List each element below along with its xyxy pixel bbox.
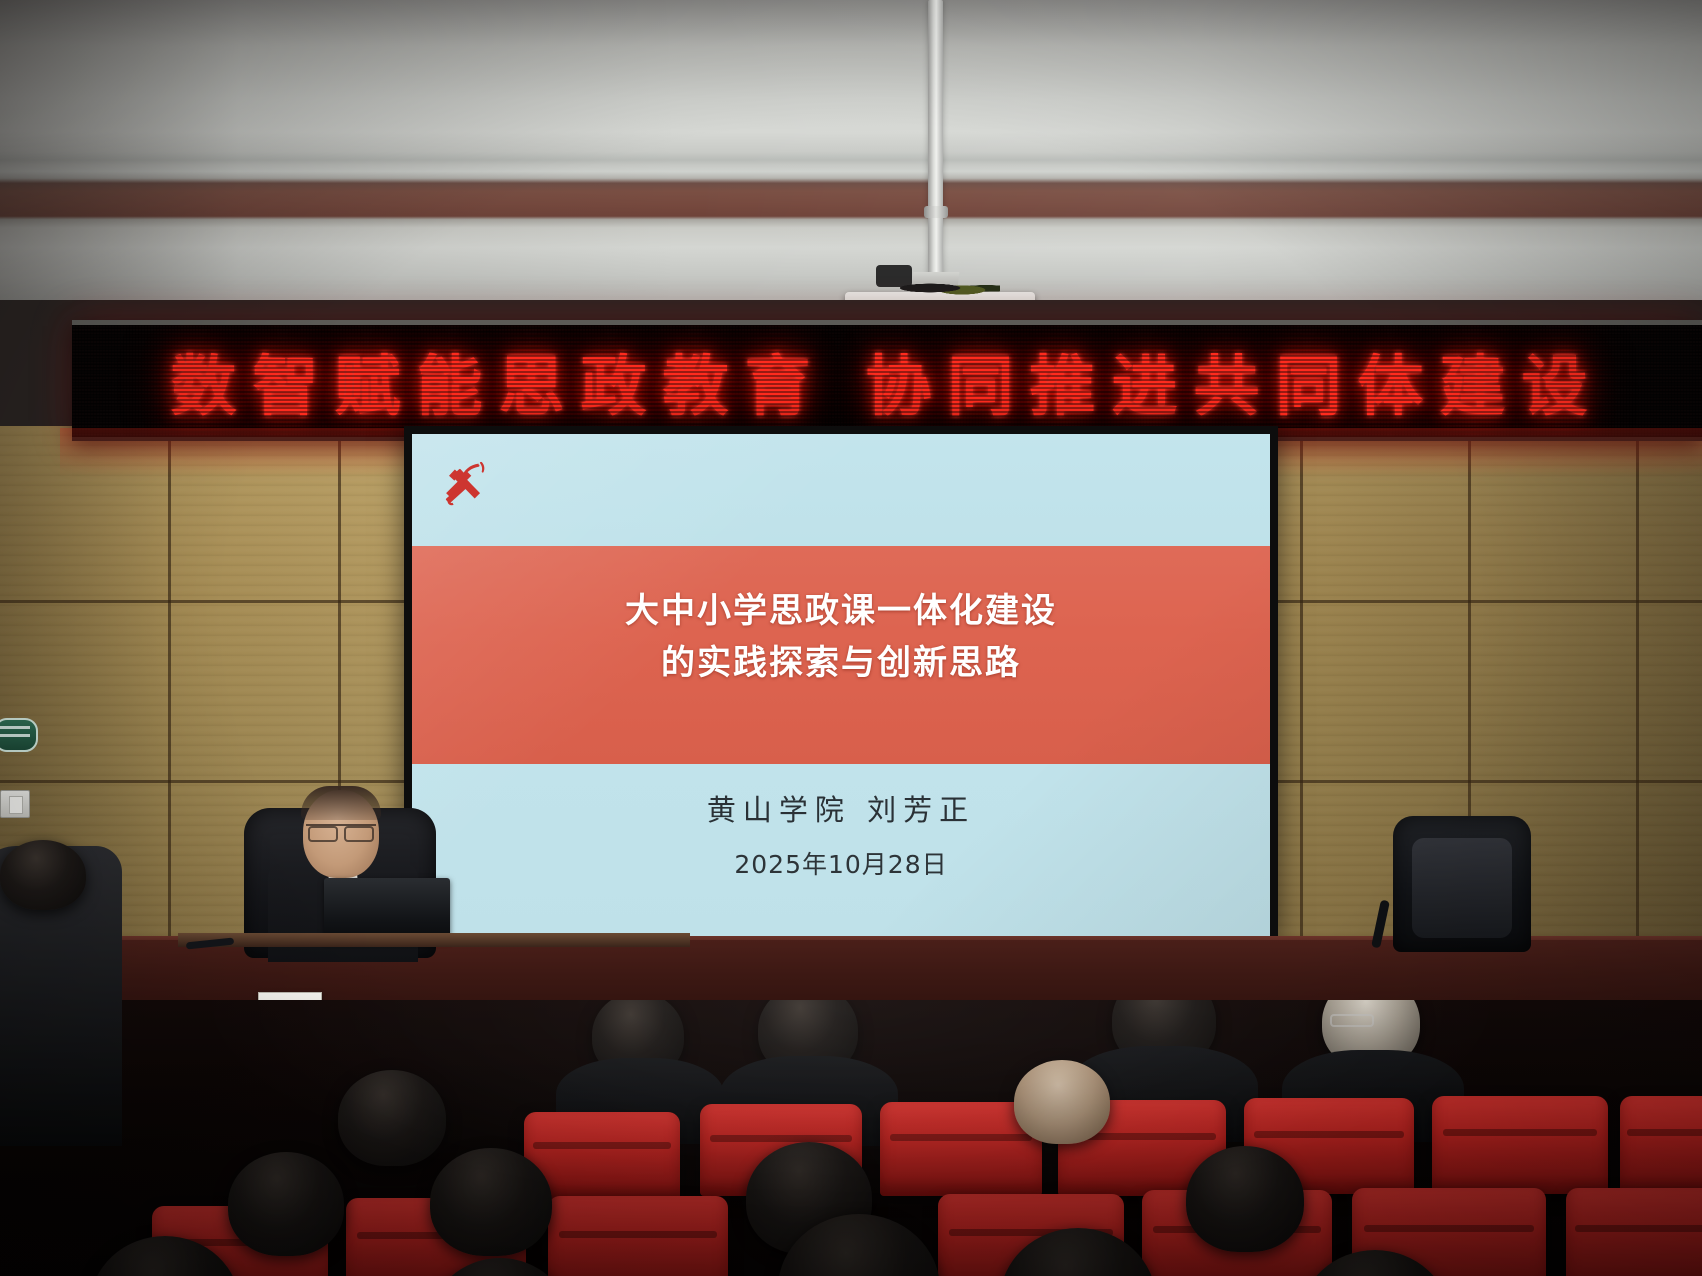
audience-seat: [1620, 1096, 1702, 1194]
audience-seat: [1566, 1188, 1702, 1276]
lecture-hall-photo: 数智赋能思政教育 协同推进共同体建设 大中小学思政课一体化建设: [0, 0, 1702, 1276]
audience-head: [1014, 1060, 1110, 1144]
vacant-stage-chair-cushion: [1412, 838, 1512, 938]
audience-head: [430, 1148, 552, 1256]
slide-presenter-affiliation: 黄山学院 刘芳正: [412, 786, 1270, 835]
ceiling-shading: [0, 0, 1702, 330]
standing-attendee-head: [0, 840, 86, 910]
panel-seam: [0, 600, 404, 603]
projection-screen: 大中小学思政课一体化建设 的实践探索与创新思路 黄山学院 刘芳正 2025年10…: [412, 434, 1270, 938]
slide-title-line-1: 大中小学思政课一体化建设: [412, 586, 1270, 638]
presenter-glasses-icon: [306, 824, 376, 839]
emergency-exit-sign: [0, 718, 38, 752]
panel-seam: [1300, 426, 1303, 1006]
audience-head: [1186, 1146, 1304, 1252]
slide-top-panel: [412, 434, 1270, 546]
panel-seam: [1636, 426, 1639, 1006]
audience-area: [0, 1000, 1702, 1276]
audience-glasses-icon: [1330, 1014, 1374, 1027]
cpc-hammer-sickle-icon: [434, 452, 496, 514]
slide-title-line-2: 的实践探索与创新思路: [412, 638, 1270, 690]
led-banner: 数智赋能思政教育 协同推进共同体建设: [72, 320, 1702, 441]
panel-seam: [168, 426, 171, 1006]
presenter-laptop: [324, 878, 450, 940]
slide-date: 2025年10月28日: [412, 845, 1270, 881]
audience-seat: [548, 1196, 728, 1276]
stage-desk: [178, 933, 690, 947]
projector-mount-pole: [928, 0, 943, 292]
projector-pole-collar: [924, 206, 948, 218]
panel-seam: [1278, 600, 1702, 603]
audience-head: [338, 1070, 446, 1166]
ceiling: [0, 0, 1702, 330]
panel-seam: [0, 780, 404, 783]
audience-seat: [1432, 1096, 1608, 1194]
panel-seam: [1278, 780, 1702, 783]
audience-head: [228, 1152, 344, 1256]
presenter-hair: [301, 786, 381, 820]
slide-title: 大中小学思政课一体化建设 的实践探索与创新思路: [412, 586, 1270, 689]
projector-cables: [900, 278, 1000, 298]
led-banner-text: 数智赋能思政教育 协同推进共同体建设: [72, 333, 1702, 429]
exit-sign-text-icon: [0, 726, 30, 744]
light-switch[interactable]: [0, 790, 30, 818]
slide-footer: 黄山学院 刘芳正 2025年10月28日: [412, 786, 1270, 881]
